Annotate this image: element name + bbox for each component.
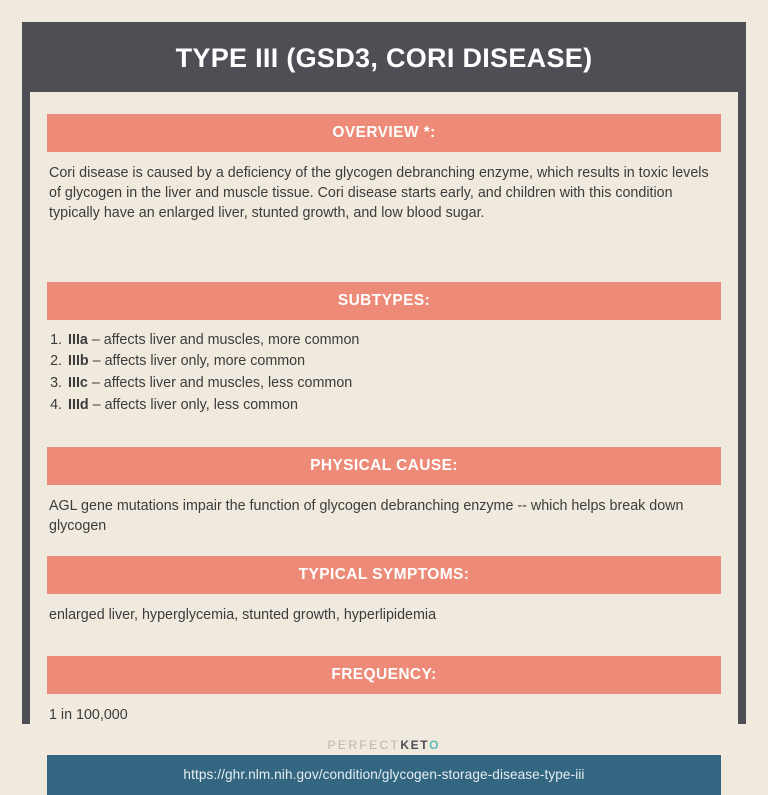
- brand-name-dark: KET: [400, 738, 429, 752]
- section-subtypes: SUBTYPES: IIIa – affects liver and muscl…: [47, 282, 721, 417]
- subtype-description: – affects liver only, more common: [93, 353, 305, 369]
- infographic-card: TYPE III (GSD3, CORI DISEASE) OVERVIEW *…: [22, 22, 746, 724]
- subtype-description: – affects liver only, less common: [93, 397, 298, 413]
- subtype-code: IIIb: [68, 353, 89, 369]
- section-overview: OVERVIEW *: Cori disease is caused by a …: [47, 114, 721, 224]
- subtype-description: – affects liver and muscles, more common: [92, 332, 360, 348]
- section-header-frequency: FREQUENCY:: [47, 656, 721, 694]
- subtype-description: – affects liver and muscles, less common: [92, 375, 352, 391]
- spacer: [47, 224, 721, 282]
- brand-logo: PERFECTKETO: [0, 738, 768, 752]
- list-item: IIId – affects liver only, less common: [66, 395, 721, 417]
- subtype-code: IIId: [68, 397, 89, 413]
- title-bar: TYPE III (GSD3, CORI DISEASE): [30, 30, 738, 92]
- section-header-typical-symptoms: TYPICAL SYMPTOMS:: [47, 556, 721, 594]
- spacer: [47, 536, 721, 556]
- list-item: IIIb – affects liver only, more common: [66, 351, 721, 373]
- section-body-physical-cause: AGL gene mutations impair the function o…: [47, 485, 721, 537]
- section-body-frequency: 1 in 100,000: [47, 694, 721, 725]
- section-body-overview: Cori disease is caused by a deficiency o…: [47, 152, 721, 224]
- spacer: [47, 417, 721, 447]
- section-header-physical-cause: PHYSICAL CAUSE:: [47, 447, 721, 485]
- section-header-overview: OVERVIEW *:: [47, 114, 721, 152]
- subtype-code: IIIa: [68, 332, 88, 348]
- list-item: IIIa – affects liver and muscles, more c…: [66, 330, 721, 352]
- section-frequency: FREQUENCY: 1 in 100,000: [47, 656, 721, 725]
- content-area: OVERVIEW *: Cori disease is caused by a …: [30, 92, 738, 795]
- section-body-typical-symptoms: enlarged liver, hyperglycemia, stunted g…: [47, 594, 721, 625]
- spacer: [47, 626, 721, 656]
- page-title: TYPE III (GSD3, CORI DISEASE): [40, 44, 728, 74]
- brand-name-light: PERFECT: [328, 738, 401, 752]
- source-url-link[interactable]: https://ghr.nlm.nih.gov/condition/glycog…: [47, 755, 721, 795]
- subtype-list: IIIa – affects liver and muscles, more c…: [47, 330, 721, 417]
- section-physical-cause: PHYSICAL CAUSE: AGL gene mutations impai…: [47, 447, 721, 537]
- list-item: IIIc – affects liver and muscles, less c…: [66, 373, 721, 395]
- section-header-subtypes: SUBTYPES:: [47, 282, 721, 320]
- brand-name-accent: O: [429, 738, 440, 752]
- subtype-code: IIIc: [68, 375, 88, 391]
- section-typical-symptoms: TYPICAL SYMPTOMS: enlarged liver, hyperg…: [47, 556, 721, 625]
